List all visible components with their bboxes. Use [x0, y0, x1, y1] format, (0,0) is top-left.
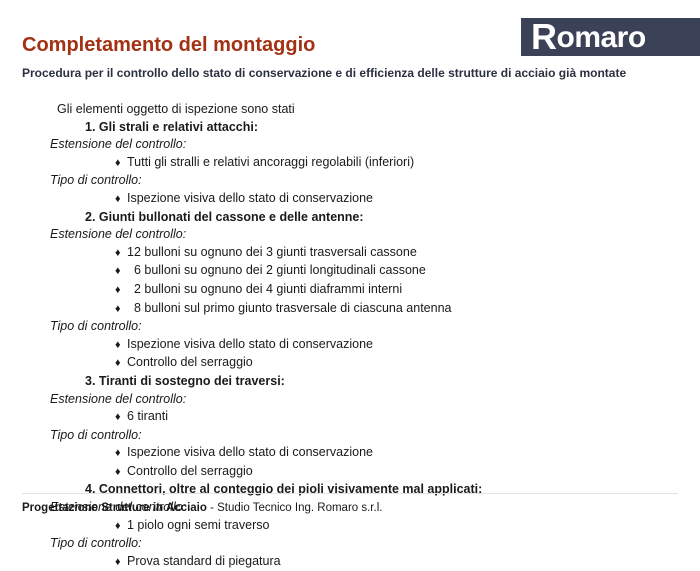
group-label: Tipo di controllo: — [0, 318, 700, 336]
diamond-bullet-icon: ♦ — [115, 282, 127, 300]
section-heading: 3. Tiranti di sostegno dei traversi: — [0, 373, 700, 391]
diamond-bullet-icon: ♦ — [115, 554, 127, 571]
bullet-item: ♦ 8 bulloni sul primo giunto trasversale… — [0, 300, 700, 319]
group-label: Estensione del controllo: — [0, 226, 700, 244]
bullet-item-label: Ispezione visiva dello stato di conserva… — [127, 337, 373, 351]
diamond-bullet-icon: ♦ — [115, 155, 127, 173]
diamond-bullet-icon: ♦ — [115, 191, 127, 209]
section-heading: 4. Connettori, oltre al conteggio dei pi… — [0, 481, 700, 499]
bullet-item: ♦ 2 bulloni su ognuno dei 4 giunti diafr… — [0, 281, 700, 300]
bullet-item: ♦12 bulloni su ognuno dei 3 giunti trasv… — [0, 244, 700, 263]
bullet-item: ♦6 tiranti — [0, 408, 700, 427]
bullet-item-label: 2 bulloni su ognuno dei 4 giunti diafram… — [127, 282, 402, 296]
bullet-item-label: Controllo del serraggio — [127, 355, 253, 369]
diamond-bullet-icon: ♦ — [115, 464, 127, 482]
diamond-bullet-icon: ♦ — [115, 355, 127, 373]
diamond-bullet-icon: ♦ — [115, 337, 127, 355]
bullet-item-label: Tutti gli stralli e relativi ancoraggi r… — [127, 155, 414, 169]
logo-text: Romaro — [531, 19, 646, 56]
bullet-item: ♦Controllo del serraggio — [0, 354, 700, 373]
bullet-item-label: 6 tiranti — [127, 409, 168, 423]
diamond-bullet-icon: ♦ — [115, 245, 127, 263]
bullet-item-label: 6 bulloni su ognuno dei 2 giunti longitu… — [127, 263, 426, 277]
diamond-bullet-icon: ♦ — [115, 445, 127, 463]
bullet-item: ♦Ispezione visiva dello stato di conserv… — [0, 190, 700, 209]
slide-canvas: Romaro Completamento del montaggio Proce… — [0, 0, 700, 525]
romaro-logo: Romaro — [521, 18, 700, 56]
footer-detail: - Studio Tecnico Ing. Romaro s.r.l. — [207, 502, 383, 514]
bullet-item-label: Prova standard di piegatura — [127, 554, 281, 568]
diamond-bullet-icon: ♦ — [115, 409, 127, 427]
intro-line: Gli elementi oggetto di ispezione sono s… — [0, 101, 700, 119]
bullet-item: ♦1 piolo ogni semi traverso — [0, 517, 700, 536]
page-subtitle: Procedura per il controllo dello stato d… — [22, 65, 626, 81]
bullet-item: ♦Ispezione visiva dello stato di conserv… — [0, 336, 700, 355]
footer-company: Progettazione Strutture in Acciaio — [22, 502, 207, 514]
diamond-bullet-icon: ♦ — [115, 301, 127, 319]
bullet-item-label: 8 bulloni sul primo giunto trasversale d… — [127, 301, 452, 315]
section-heading: 1. Gli strali e relativi attacchi: — [0, 119, 700, 137]
group-label: Tipo di controllo: — [0, 535, 700, 553]
bullet-item: ♦Controllo del serraggio — [0, 463, 700, 482]
bullet-item: ♦ 6 bulloni su ognuno dei 2 giunti longi… — [0, 262, 700, 281]
logo-initial: R — [531, 18, 557, 56]
page-title: Completamento del montaggio — [22, 33, 315, 57]
group-label: Tipo di controllo: — [0, 427, 700, 445]
group-label: Estensione del controllo: — [0, 136, 700, 154]
bullet-item-label: Controllo del serraggio — [127, 464, 253, 478]
bullet-item: ♦Ispezione visiva dello stato di conserv… — [0, 444, 700, 463]
footer-text: Progettazione Strutture in Acciaio - Stu… — [22, 501, 382, 516]
section-heading: 2. Giunti bullonati del cassone e delle … — [0, 209, 700, 227]
diamond-bullet-icon: ♦ — [115, 263, 127, 281]
bullet-item-label: 12 bulloni su ognuno dei 3 giunti trasve… — [127, 245, 417, 259]
footer-divider — [22, 493, 678, 494]
group-label: Tipo di controllo: — [0, 172, 700, 190]
logo-rest: omaro — [557, 21, 646, 54]
diamond-bullet-icon: ♦ — [115, 518, 127, 536]
bullet-item-label: Ispezione visiva dello stato di conserva… — [127, 191, 373, 205]
bullet-item: ♦Tutti gli stralli e relativi ancoraggi … — [0, 154, 700, 173]
bullet-item: ♦Prova standard di piegatura — [0, 553, 700, 571]
group-label: Estensione del controllo: — [0, 391, 700, 409]
bullet-item-label: Ispezione visiva dello stato di conserva… — [127, 445, 373, 459]
